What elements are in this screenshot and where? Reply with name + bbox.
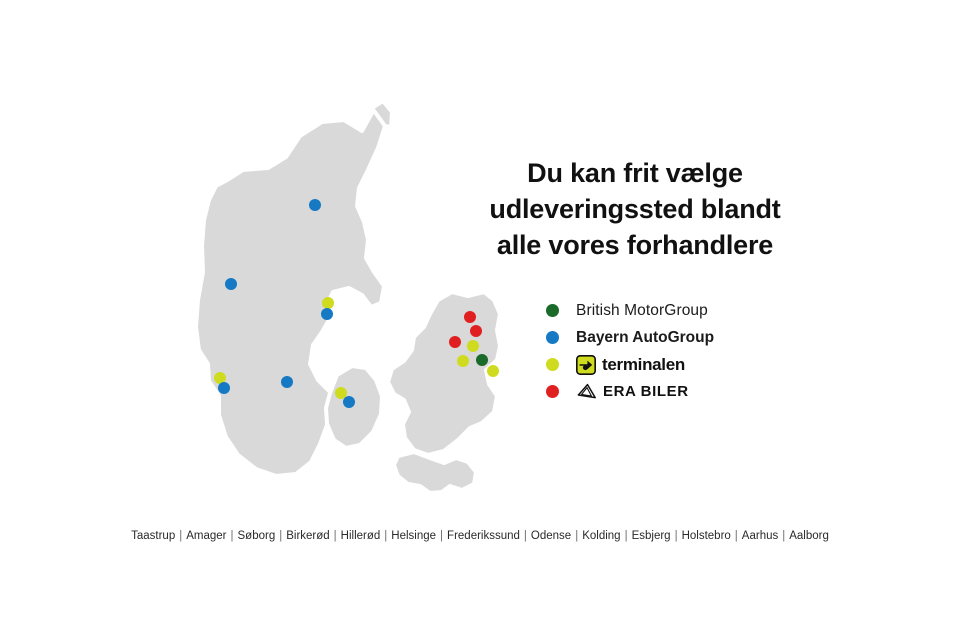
legend-dot-terminalen (546, 358, 559, 371)
map-marker-frederikssund-era[interactable] (449, 336, 461, 348)
headline: Du kan frit vælge udleveringssted blandt… (460, 155, 810, 263)
legend-item-bayern-autogroup[interactable]: Bayern AutoGroup (546, 325, 846, 350)
map-marker-holstebro-bayern[interactable] (225, 278, 237, 290)
map-marker-hillerod-era[interactable] (470, 325, 482, 337)
legend-dot-british-motorgroup (546, 304, 559, 317)
terminalen-logo-icon (576, 355, 596, 375)
city-separator: | (731, 530, 742, 542)
region-zealand (388, 292, 500, 455)
city-aarhus: Aarhus (742, 530, 778, 542)
region-lolland-falster (394, 452, 476, 493)
map-marker-taastrup-british[interactable] (476, 354, 488, 366)
city-holstebro: Holstebro (682, 530, 731, 542)
map-marker-odense-terminalen[interactable] (335, 387, 347, 399)
legend-item-british-motorgroup[interactable]: British MotorGroup (546, 298, 846, 323)
map-marker-esbjerg-bayern[interactable] (218, 382, 230, 394)
city-separator: | (520, 530, 531, 542)
map-marker-amager-terminalen[interactable] (487, 365, 499, 377)
city-separator: | (380, 530, 391, 542)
city-separator: | (175, 530, 186, 542)
legend-dot-bayern-autogroup (546, 331, 559, 344)
map-marker-helsinge-era[interactable] (464, 311, 476, 323)
city-hillerod: Hillerød (341, 530, 381, 542)
headline-line-3: alle vores forhandlere (460, 227, 810, 263)
map-marker-kolding-bayern[interactable] (281, 376, 293, 388)
region-funen (326, 366, 382, 448)
city-esbjerg: Esbjerg (632, 530, 671, 542)
city-odense: Odense (531, 530, 571, 542)
map-marker-odense-bayern[interactable] (343, 396, 355, 408)
legend: British MotorGroup Bayern AutoGroup term… (546, 298, 846, 406)
city-helsinge: Helsinge (391, 530, 436, 542)
legend-dot-era-biler (546, 385, 559, 398)
city-separator: | (436, 530, 447, 542)
city-separator: | (571, 530, 582, 542)
map-marker-aalborg-bayern[interactable] (309, 199, 321, 211)
map-landmasses (196, 101, 500, 493)
city-separator: | (275, 530, 286, 542)
map-marker-aarhus-bayern[interactable] (321, 308, 333, 320)
city-aalborg: Aalborg (789, 530, 829, 542)
map-marker-aarhus-terminalen[interactable] (322, 297, 334, 309)
city-separator: | (778, 530, 789, 542)
poster-canvas: Du kan frit vælge udleveringssted blandt… (0, 0, 960, 640)
era-biler-wordmark: ERA BILER (603, 384, 689, 400)
legend-item-era-biler[interactable]: ERA BILER (546, 379, 846, 404)
map-marker-birkerod-terminalen[interactable] (467, 340, 479, 352)
city-separator: | (227, 530, 238, 542)
legend-label-bayern-autogroup: Bayern AutoGroup (576, 329, 714, 346)
headline-line-2: udleveringssted blandt (460, 191, 810, 227)
legend-item-terminalen[interactable]: terminalen (546, 352, 846, 377)
city-separator: | (671, 530, 682, 542)
legend-label-british-motorgroup: British MotorGroup (576, 302, 708, 319)
city-amager: Amager (186, 530, 226, 542)
city-frederikssund: Frederikssund (447, 530, 520, 542)
city-separator: | (621, 530, 632, 542)
era-biler-logo-lockup: ERA BILER (576, 383, 689, 401)
terminalen-logo-lockup: terminalen (576, 355, 685, 375)
city-taastrup: Taastrup (131, 530, 175, 542)
city-birkerod: Birkerød (286, 530, 329, 542)
era-biler-triangle-icon (576, 383, 598, 401)
city-kolding: Kolding (582, 530, 620, 542)
terminalen-wordmark: terminalen (602, 356, 685, 374)
headline-line-1: Du kan frit vælge (460, 155, 810, 191)
city-soborg: Søborg (238, 530, 276, 542)
city-list: Taastrup|Amager|Søborg|Birkerød|Hillerød… (0, 528, 960, 544)
map-marker-soborg-terminalen[interactable] (457, 355, 469, 367)
city-separator: | (330, 530, 341, 542)
